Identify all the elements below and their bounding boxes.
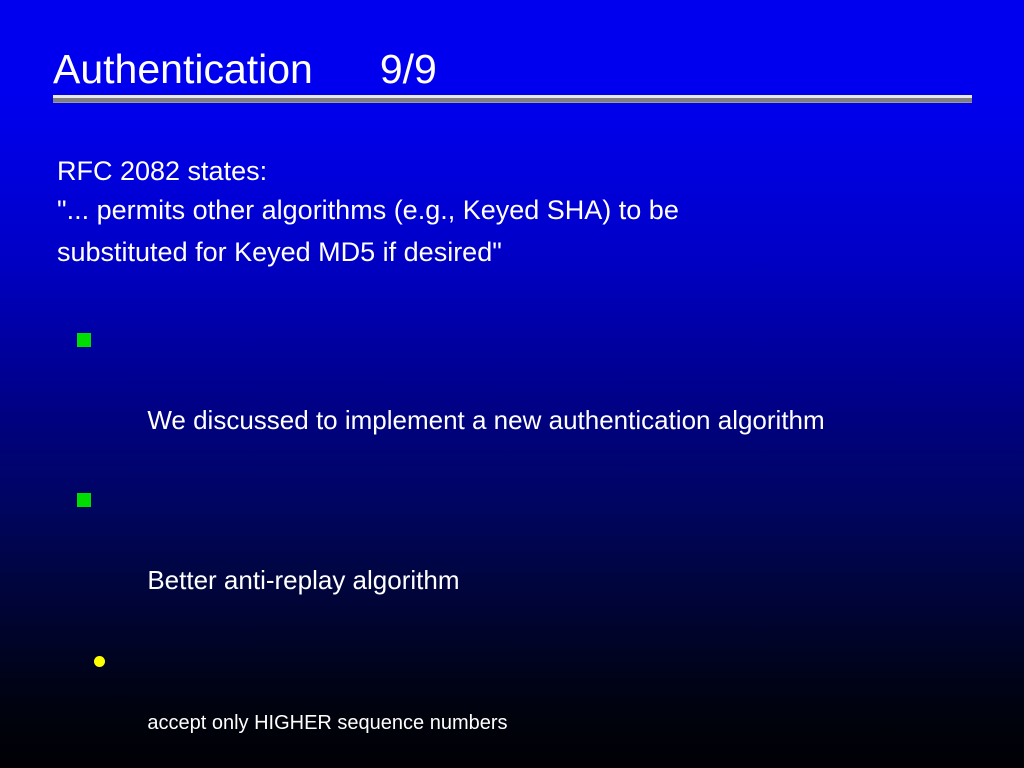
bullet-item: We discussed to implement a new authenti…: [0, 320, 1024, 480]
slide-title: Authentication9/9: [53, 45, 972, 93]
square-bullet-icon: [77, 493, 91, 507]
square-bullet-icon: [77, 333, 91, 347]
sub-bullet-label: accept only HIGHER sequence numbers: [147, 712, 507, 734]
rule-shadow: [53, 102, 972, 103]
presentation-slide: Authentication9/9 RFC 2082 states: "... …: [0, 0, 1024, 768]
bullet-label: Better anti-replay algorithm: [147, 565, 459, 595]
slide-page-indicator: 9/9: [313, 46, 437, 92]
title-text: Authentication: [53, 46, 313, 92]
intro-line-3: substituted for Keyed MD5 if desired": [57, 230, 957, 275]
bullet-content: We discussed to implement a new authenti…: [0, 320, 1024, 768]
title-divider-rule: [53, 95, 972, 103]
bullet-label: We discussed to implement a new authenti…: [147, 405, 824, 435]
sub-bullet-item: accept only HIGHER sequence numbers: [0, 646, 1024, 768]
intro-line-1: RFC 2082 states:: [57, 152, 957, 191]
circle-bullet-icon: [94, 656, 105, 667]
title-row: Authentication9/9: [53, 45, 972, 93]
bullet-item: Better anti-replay algorithm: [0, 480, 1024, 640]
intro-line-2: "... permits other algorithms (e.g., Key…: [57, 191, 957, 230]
intro-paragraph: RFC 2082 states: "... permits other algo…: [57, 152, 957, 275]
